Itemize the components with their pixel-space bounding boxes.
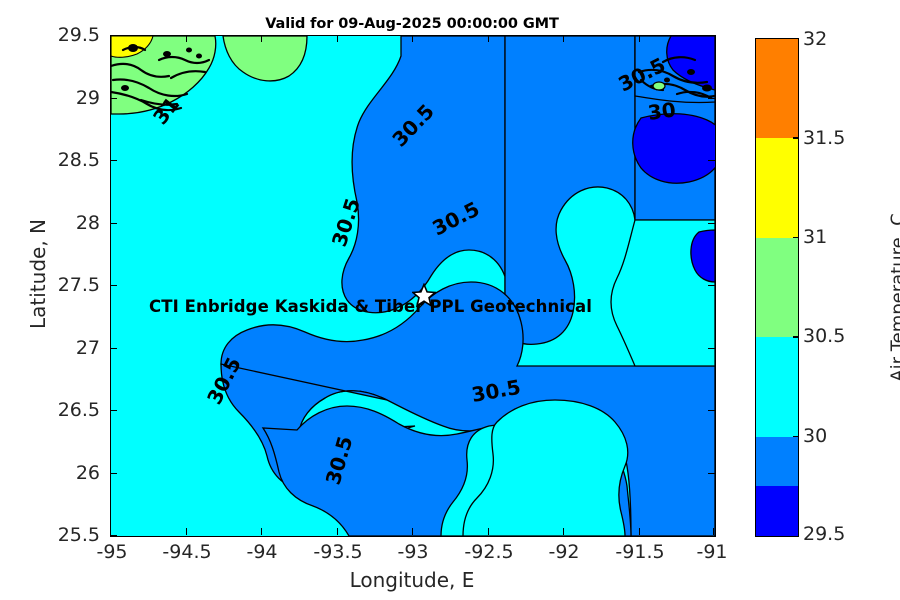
coastline-green-ne <box>653 82 665 90</box>
x-axis-label: Longitude, E <box>110 568 714 592</box>
colorbar-title: Air Temperature, C <box>888 168 900 428</box>
y-tick-label: 29 <box>0 87 100 109</box>
colorbar-band-31-31.5 <box>756 138 798 237</box>
x-tick-top <box>186 35 187 42</box>
colorbar-band-30-30.5 <box>756 337 798 436</box>
x-tick <box>186 528 187 535</box>
y-tick <box>110 348 117 349</box>
station-annotation-label: CTI Enbridge Kaskida & Tiber PPL Geotech… <box>149 297 592 316</box>
colorbar-band-29.75-30 <box>756 437 798 487</box>
y-tick-right <box>708 285 715 286</box>
x-tick-top <box>412 35 413 42</box>
x-tick <box>261 528 262 535</box>
x-tick <box>488 528 489 535</box>
x-tick-label: -92.5 <box>464 541 513 563</box>
colorbar-tick <box>793 237 799 238</box>
y-tick-label: 26 <box>0 462 100 484</box>
colorbar-band-31.5-32 <box>756 39 798 138</box>
colorbar-tick-label: 31 <box>803 226 827 248</box>
y-axis-label: Latitude, N <box>26 174 50 374</box>
x-tick-label: -93.5 <box>313 541 362 563</box>
y-tick-right <box>708 348 715 349</box>
y-tick-label: 28.5 <box>0 149 100 171</box>
y-tick <box>110 98 117 99</box>
x-tick-label: -94.5 <box>162 541 211 563</box>
y-tick-label: 26.5 <box>0 399 100 421</box>
y-tick-right <box>708 223 715 224</box>
region-deepblue-northeast <box>633 114 715 184</box>
x-tick <box>563 528 564 535</box>
x-tick-label: -92 <box>548 541 579 563</box>
y-tick <box>110 473 117 474</box>
colorbar-tick-label: 30.5 <box>803 325 845 347</box>
x-tick-label: -94 <box>246 541 277 563</box>
colorbar-band-29.5-29.75 <box>756 486 798 536</box>
y-tick-label: 27.5 <box>0 274 100 296</box>
colorbar-tick-label: 30 <box>803 425 827 447</box>
y-tick <box>110 160 117 161</box>
y-tick-right <box>708 410 715 411</box>
colorbar-tick-label: 29.5 <box>803 523 845 545</box>
contour-label: 30 <box>646 97 677 125</box>
x-tick-label: -91 <box>696 541 727 563</box>
x-tick <box>639 528 640 535</box>
x-tick-label: -91.5 <box>615 541 664 563</box>
x-tick-label: -93 <box>397 541 428 563</box>
y-tick-right <box>708 160 715 161</box>
x-tick-top <box>337 35 338 42</box>
chart-title: Valid for 09-Aug-2025 00:00:00 GMT <box>110 16 714 32</box>
x-tick <box>110 528 111 535</box>
colorbar-tick <box>793 436 799 437</box>
x-tick <box>713 528 714 535</box>
star-marker[interactable] <box>412 283 436 307</box>
y-tick <box>110 410 117 411</box>
y-tick-label: 25.5 <box>0 524 100 546</box>
colorbar-tick <box>793 336 799 337</box>
figure-canvas: Valid for 09-Aug-2025 00:00:00 GMT <box>0 0 900 600</box>
y-tick-right <box>708 473 715 474</box>
x-tick-top <box>639 35 640 42</box>
x-tick <box>337 528 338 535</box>
x-tick-top <box>261 35 262 42</box>
colorbar-tick-label: 32 <box>803 28 827 50</box>
y-tick <box>110 285 117 286</box>
colorbar-tick-label: 31.5 <box>803 127 845 149</box>
y-tick-label: 29.5 <box>0 24 100 46</box>
y-tick <box>110 535 117 536</box>
colorbar[interactable] <box>755 38 799 537</box>
colorbar-band-30.5-31 <box>756 238 798 337</box>
x-tick-label: -95 <box>96 541 127 563</box>
y-tick <box>110 35 117 36</box>
y-tick-label: 28 <box>0 212 100 234</box>
y-tick-right <box>708 98 715 99</box>
x-tick <box>412 528 413 535</box>
x-tick-top <box>488 35 489 42</box>
colorbar-tick <box>793 137 799 138</box>
y-tick-label: 27 <box>0 337 100 359</box>
y-tick <box>110 223 117 224</box>
x-tick-top <box>563 35 564 42</box>
